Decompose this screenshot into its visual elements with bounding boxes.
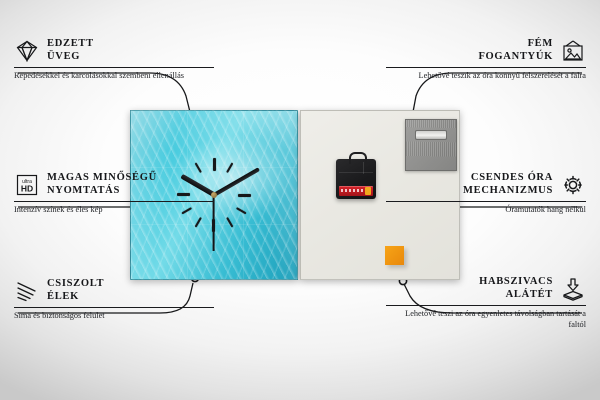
callout-description: Lehetővé teszi az óra egyenletes távolsá… — [386, 309, 586, 330]
hanger-slot — [415, 130, 447, 140]
callout-tempered-glass: EDZETTÜVEG Repedésekkel és karcolásokkal… — [14, 38, 214, 82]
metal-hanger-part — [405, 119, 457, 171]
callout-title: FÉMFOGANTYÚK — [478, 38, 553, 63]
callout-title: EDZETTÜVEG — [47, 38, 94, 63]
callout-foam-spacer: HABSZIVACSALÁTÉT Lehetővé teszi az óra e… — [386, 276, 586, 330]
callout-description: Sima és biztonságos felület — [14, 311, 214, 322]
callout-metal-handles: FÉMFOGANTYÚK Lehetővé teszik az óra könn… — [386, 38, 586, 82]
callout-description: Óramutatók hang nélkül — [386, 205, 586, 216]
mechanism-seam — [339, 172, 373, 173]
callout-high-quality-print: ultra HD MAGAS MINŐSÉGŰNYOMTATÁS Intenzí… — [14, 172, 214, 216]
callout-divider — [386, 305, 586, 306]
foam-pad-part — [385, 246, 404, 265]
clock-mechanism-part — [336, 159, 376, 199]
callout-description: Intenzív színek és éles kép — [14, 205, 214, 216]
callout-title: CSENDES ÓRAMECHANIZMUS — [463, 172, 553, 197]
callout-head: CSISZOLTÉLEK — [14, 278, 214, 303]
callout-title: MAGAS MINŐSÉGŰNYOMTATÁS — [47, 172, 157, 197]
mechanism-hanging-loop — [349, 152, 367, 164]
callout-head: ultra HD MAGAS MINŐSÉGŰNYOMTATÁS — [14, 172, 214, 197]
callout-description: Repedésekkel és karcolásokkal szembeni e… — [14, 71, 214, 82]
callout-polished-edges: CSISZOLTÉLEK Sima és biztonságos felület — [14, 278, 214, 322]
diamond-icon — [14, 39, 40, 63]
callout-head: EDZETTÜVEG — [14, 38, 214, 63]
callout-title: HABSZIVACSALÁTÉT — [479, 276, 553, 301]
battery-part — [339, 186, 373, 196]
callout-divider — [386, 67, 586, 68]
callout-divider — [14, 67, 214, 68]
callout-divider — [14, 201, 214, 202]
callout-title: CSISZOLTÉLEK — [47, 278, 104, 303]
callout-silent-mechanism: CSENDES ÓRAMECHANIZMUS Óramutatók hang n… — [386, 172, 586, 216]
infographic-canvas: EDZETTÜVEG Repedésekkel és karcolásokkal… — [0, 0, 600, 400]
svg-text:HD: HD — [21, 183, 33, 193]
wall-frame-icon — [560, 39, 586, 63]
polished-edge-icon — [14, 279, 40, 303]
callout-head: FÉMFOGANTYÚK — [386, 38, 586, 63]
callout-head: CSENDES ÓRAMECHANIZMUS — [386, 172, 586, 197]
mechanism-detail-line — [363, 162, 364, 174]
callout-description: Lehetővé teszik az óra könnyű felszerelé… — [386, 71, 586, 82]
battery-label — [341, 189, 363, 192]
callout-divider — [386, 201, 586, 202]
battery-positive-terminal — [365, 187, 371, 195]
gear-icon — [560, 173, 586, 197]
callout-head: HABSZIVACSALÁTÉT — [386, 276, 586, 301]
foam-pad-icon — [560, 277, 586, 301]
callout-divider — [14, 307, 214, 308]
ultra-hd-icon: ultra HD — [14, 173, 40, 197]
